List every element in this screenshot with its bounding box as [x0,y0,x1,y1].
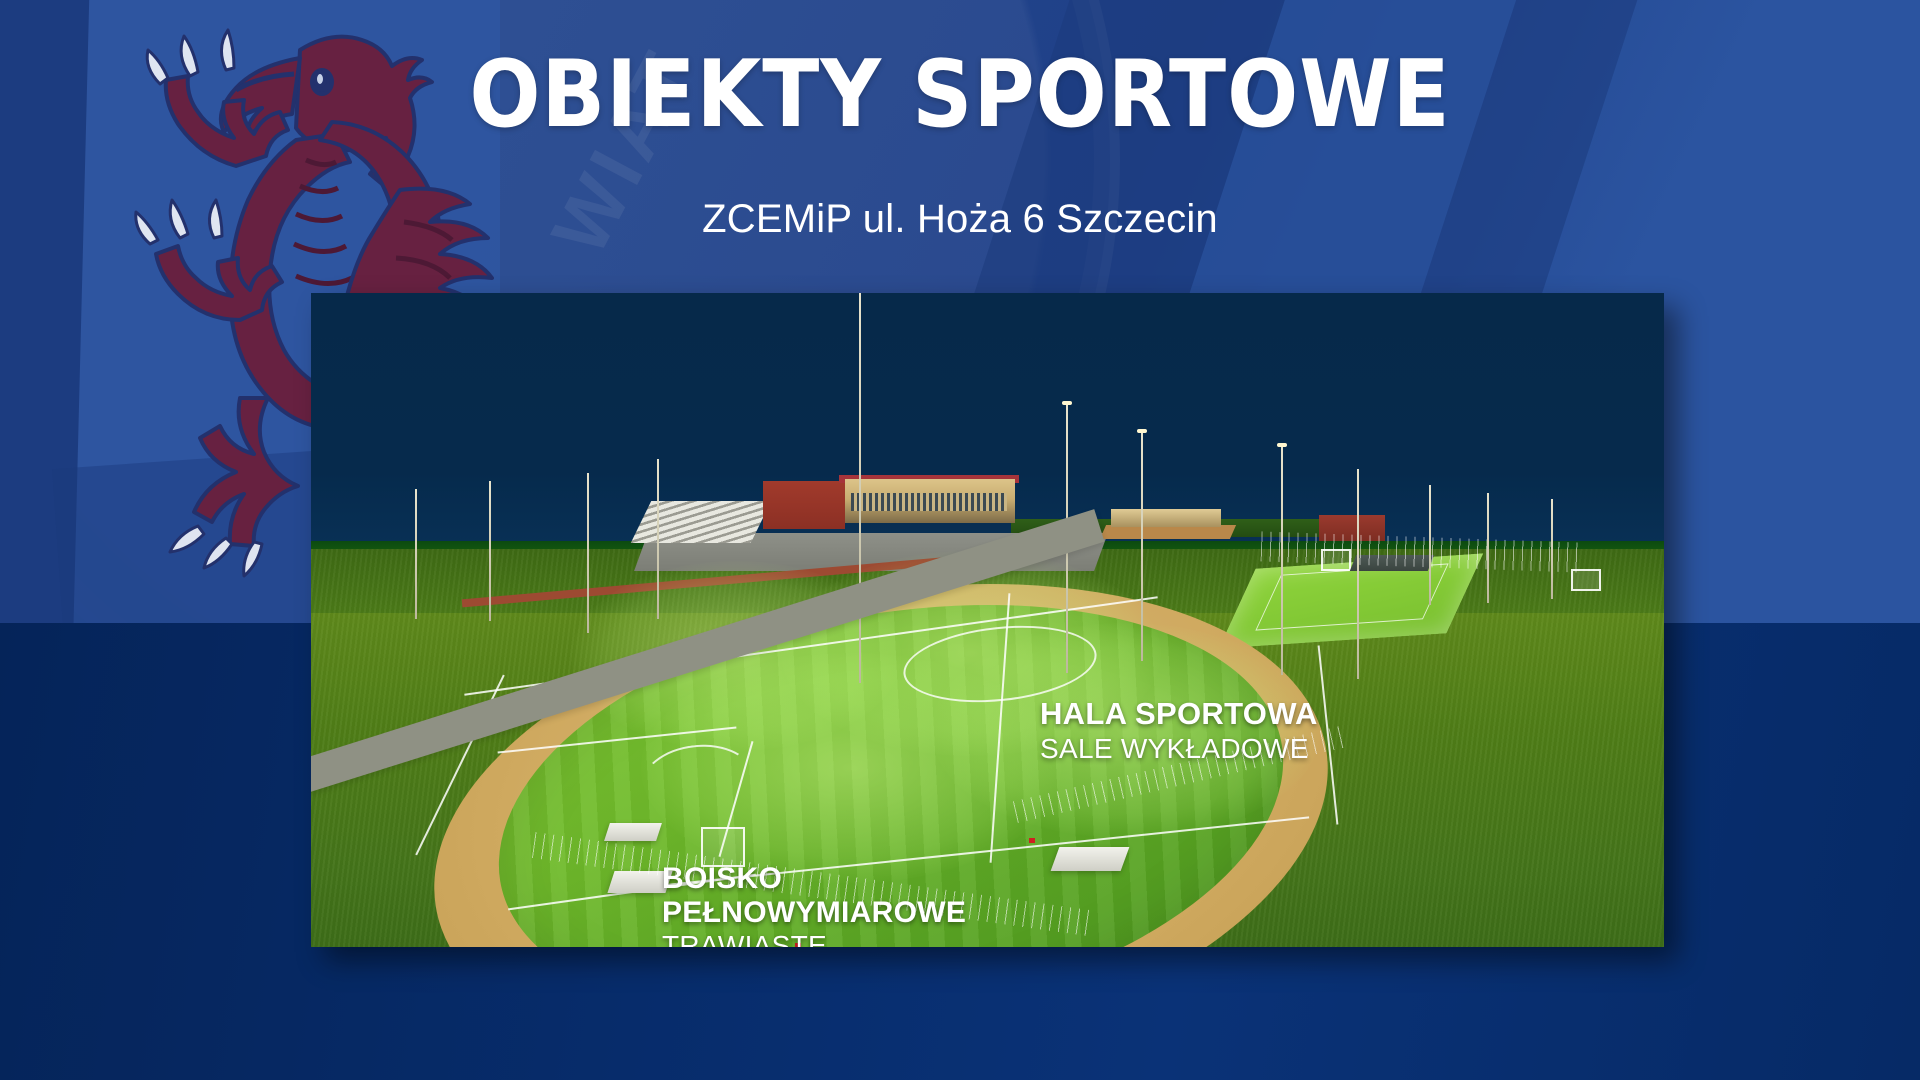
floodlight-head-8 [1277,443,1287,447]
floodlight-head-3 [1137,429,1147,433]
pavilion-canopy [1111,509,1221,527]
floodlight-mast-7 [489,481,491,621]
equipment-box-3 [1051,847,1130,871]
label-hala-sportowa: HALA SPORTOWA SALE WYKŁADOWE [1040,697,1318,766]
floodlight-head-2 [1062,401,1072,405]
floodlight-mast-11 [1487,493,1489,603]
label-hala-sportowa-sub: SALE WYKŁADOWE [1040,732,1318,766]
render-panel: HALA SPORTOWA SALE WYKŁADOWE BOISKO PEŁN… [311,293,1664,947]
building-red-block [763,481,845,529]
label-hala-sportowa-title: HALA SPORTOWA [1040,697,1318,732]
floodlight-mast-main [859,293,861,683]
page-subtitle: ZCEMiP ul. Hoża 6 Szczecin [0,197,1920,242]
floodlight-mast-4 [587,473,589,633]
corner-flag-right [1029,838,1035,843]
floodlight-mast-8 [1281,445,1283,675]
floodlight-mast-6 [415,489,417,619]
floodlight-mast-5 [657,459,659,619]
bleachers [631,501,771,543]
page-title: OBIEKTY SPORTOWE [0,48,1920,141]
pavilion-deck [1100,525,1236,539]
slide-root: WIAT [0,0,1920,1080]
label-boisko-pelnowymiarowe-sub: TRAWIASTE [662,929,966,947]
label-boisko-pelnowymiarowe-line2: PEŁNOWYMIAROWE [662,896,966,930]
label-boisko-pelnowymiarowe-line1: BOISKO [662,862,966,896]
sports-hall-windows [851,493,1007,511]
equipment-box-1 [604,823,662,841]
floodlight-mast-9 [1357,469,1359,679]
label-boisko-pelnowymiarowe: BOISKO PEŁNOWYMIAROWE TRAWIASTE [662,862,966,947]
floodlight-mast-3 [1141,431,1143,661]
floodlight-mast-10 [1429,485,1431,605]
floodlight-mast-12 [1551,499,1553,599]
